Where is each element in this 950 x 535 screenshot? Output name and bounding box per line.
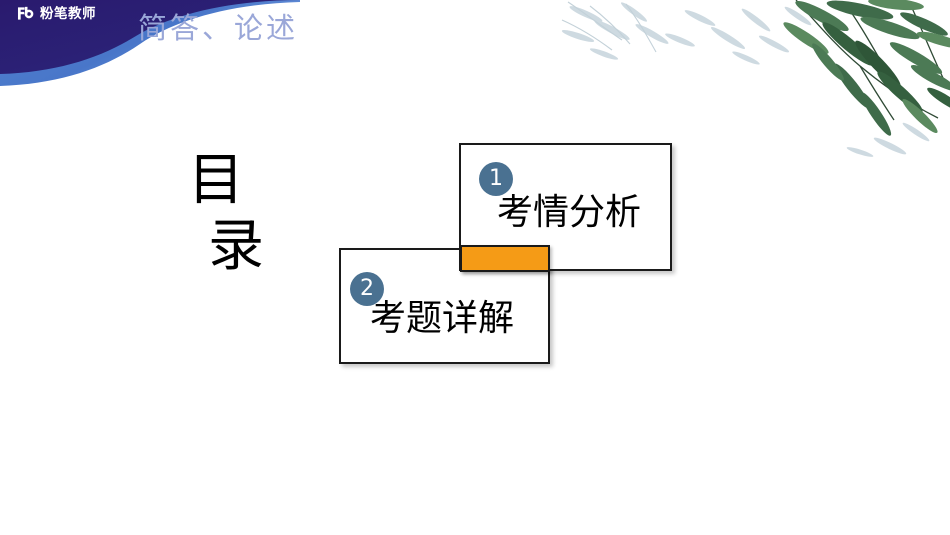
toc-card-2-label: 考题详解 bbox=[370, 300, 514, 336]
toc-heading-char-2: 录 bbox=[208, 218, 264, 274]
bamboo-leaves-decoration bbox=[560, 0, 950, 165]
toc-heading-char-1: 目 bbox=[188, 152, 244, 208]
toc-heading: 目 录 bbox=[186, 152, 306, 292]
orange-accent-bar bbox=[460, 245, 550, 272]
brand-logo: 粉笔教师 bbox=[16, 4, 96, 23]
brand-name: 粉笔教师 bbox=[40, 7, 96, 21]
slide-title: 简答、论述 bbox=[138, 12, 298, 47]
toc-card-1-label: 考情分析 bbox=[497, 194, 641, 230]
presentation-slide: 粉笔教师 简答、论述 bbox=[0, 0, 950, 535]
fb-logo-icon bbox=[16, 4, 35, 23]
